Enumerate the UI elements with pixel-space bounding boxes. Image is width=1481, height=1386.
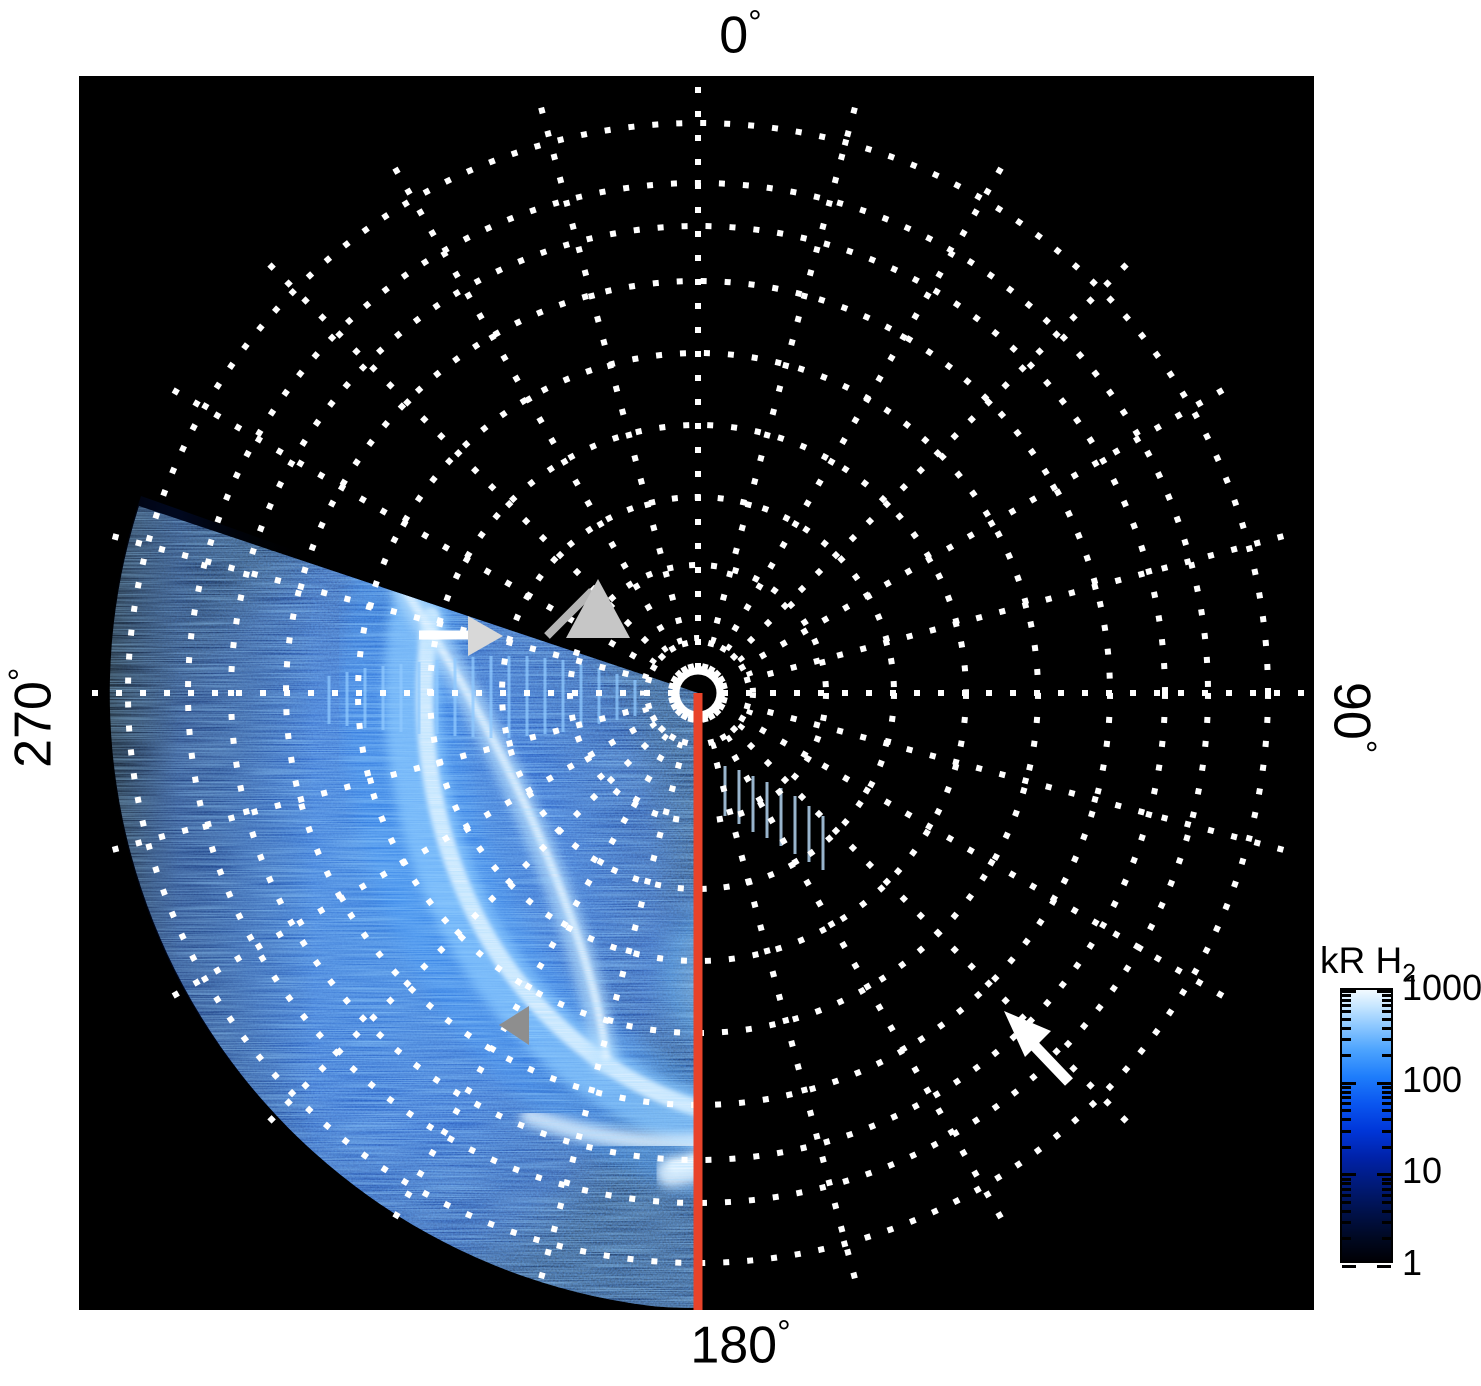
colorbar-tick [1342, 1102, 1351, 1105]
colorbar-tick [1342, 994, 1351, 997]
colorbar-tick [1382, 1182, 1391, 1185]
colorbar-tick [1382, 1188, 1391, 1191]
colorbar-tick [1342, 1182, 1351, 1185]
colorbar-tick [1382, 1237, 1391, 1240]
axis-label-270-degrees: 270° [4, 628, 59, 808]
colorbar-tick [1382, 1027, 1391, 1030]
colorbar-tick [1342, 1237, 1351, 1240]
colorbar-tick [1382, 1086, 1391, 1089]
colorbar-tick [1342, 1130, 1351, 1133]
colorbar-tick [1377, 1082, 1391, 1085]
colorbar-tick [1382, 1018, 1391, 1021]
colorbar-label: 100 [1402, 1059, 1462, 1101]
colorbar-tick [1382, 1201, 1391, 1204]
colorbar-tick [1342, 1210, 1351, 1213]
colorbar-tick [1382, 1004, 1391, 1007]
colorbar-tick [1342, 1146, 1351, 1149]
axis-label-180-degrees: 180° [0, 1316, 1481, 1371]
colorbar-label: 1 [1402, 1242, 1422, 1284]
axis-label-0-degrees: 0° [0, 6, 1481, 61]
colorbar-tick [1342, 990, 1356, 993]
colorbar-tick [1382, 1109, 1391, 1112]
colorbar-tick [1342, 1265, 1356, 1268]
colorbar-tick [1342, 1178, 1351, 1181]
colorbar-tick [1342, 999, 1351, 1002]
colorbar-tick [1342, 1188, 1351, 1191]
colorbar-tick [1342, 1010, 1351, 1013]
colorbar-tick [1382, 999, 1391, 1002]
colorbar-tick [1382, 1210, 1391, 1213]
colorbar-tick [1342, 1118, 1351, 1121]
colorbar-tick [1382, 1178, 1391, 1181]
colorbar-tick [1342, 1082, 1356, 1085]
colorbar-tick [1382, 1221, 1391, 1224]
colorbar-label: 1000 [1402, 967, 1481, 1009]
colorbar-tick [1342, 1018, 1351, 1021]
colorbar-tick [1377, 990, 1391, 993]
colorbar-tick [1382, 1038, 1391, 1041]
colorbar-tick [1342, 1221, 1351, 1224]
colorbar-tick [1342, 1201, 1351, 1204]
colorbar-label: 10 [1402, 1150, 1442, 1192]
colorbar-tick [1382, 1102, 1391, 1105]
colorbar: kR H2 1000100101 [1318, 940, 1478, 1320]
colorbar-tick [1342, 1086, 1351, 1089]
colorbar-tick [1342, 1004, 1351, 1007]
colorbar-gradient [1340, 988, 1393, 1263]
colorbar-tick [1382, 1010, 1391, 1013]
colorbar-tick [1382, 1096, 1391, 1099]
colorbar-tick [1377, 1265, 1391, 1268]
colorbar-tick [1342, 1194, 1351, 1197]
colorbar-tick [1342, 1109, 1351, 1112]
colorbar-tick [1342, 1027, 1351, 1030]
polar-plot-area[interactable] [79, 76, 1314, 1310]
colorbar-tick [1342, 1054, 1351, 1057]
colorbar-tick [1382, 1054, 1391, 1057]
colorbar-tick [1382, 994, 1391, 997]
colorbar-tick [1382, 1118, 1391, 1121]
colorbar-tick [1382, 1130, 1391, 1133]
colorbar-tick [1342, 1173, 1356, 1176]
colorbar-tick [1382, 1091, 1391, 1094]
colorbar-tick [1382, 1194, 1391, 1197]
colorbar-tick [1342, 1096, 1351, 1099]
colorbar-tick [1342, 1091, 1351, 1094]
colorbar-tick [1342, 1038, 1351, 1041]
colorbar-tick [1377, 1173, 1391, 1176]
axis-label-90-degrees: 90° [1325, 628, 1380, 808]
colorbar-tick [1382, 1146, 1391, 1149]
polar-plot-svg [79, 76, 1314, 1310]
